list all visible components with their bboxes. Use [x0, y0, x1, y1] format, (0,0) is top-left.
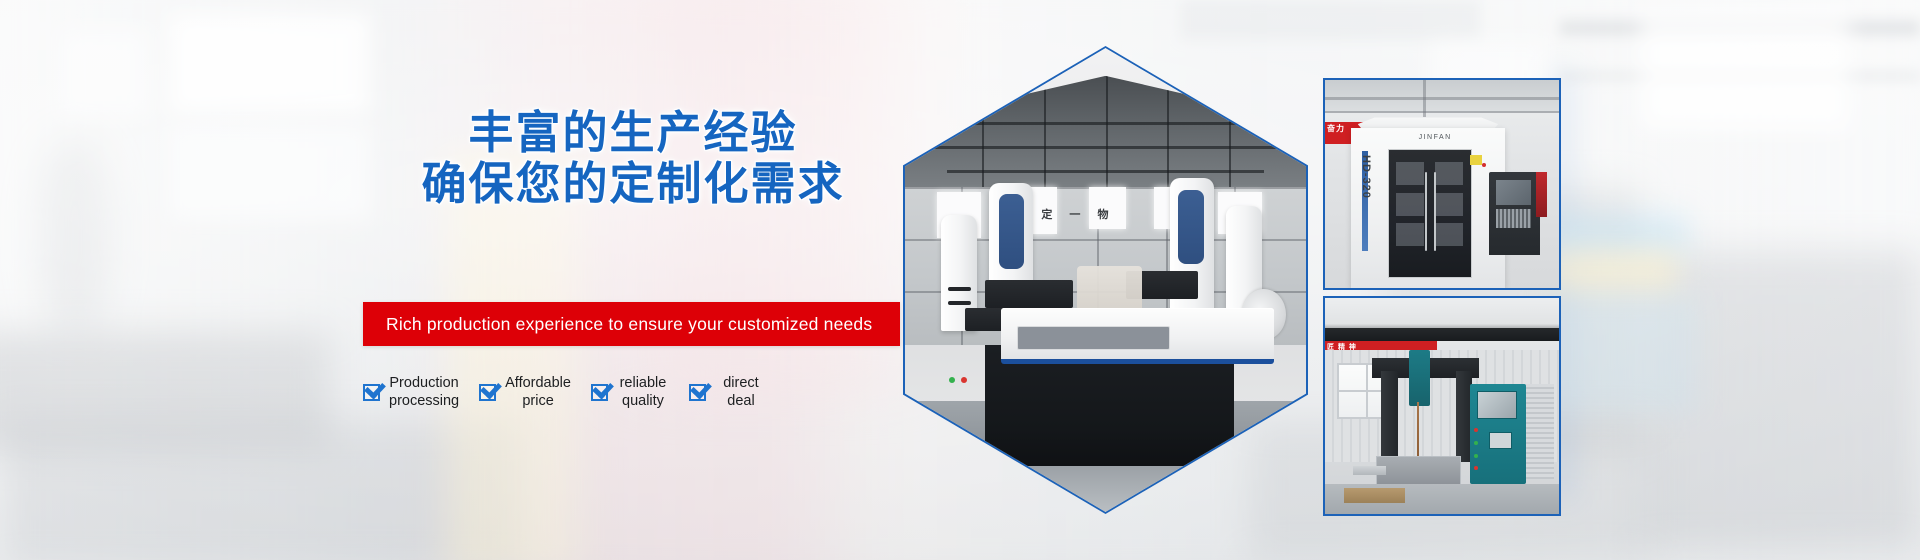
- thumb-warning-sticker: [1470, 155, 1482, 165]
- thumb-door-glass: [1396, 193, 1424, 216]
- photo-wall-sign: 定 一 物: [1041, 206, 1115, 222]
- promo-banner: 丰富的生产经验 确保您的定制化需求 Rich production experi…: [0, 0, 1920, 560]
- thumb-door-glass: [1396, 162, 1424, 185]
- thumb-door-handle: [1434, 172, 1436, 251]
- photo-roof: [905, 76, 1306, 197]
- thumb-panel-button: [1474, 454, 1478, 458]
- feature-label: Production processing: [389, 374, 459, 410]
- banner-copy: 丰富的生产经验 确保您的定制化需求 Rich production experi…: [0, 0, 1000, 560]
- subtitle-red-bar: Rich production experience to ensure you…: [363, 302, 900, 346]
- thumb-panel-button: [1474, 441, 1478, 445]
- thumb-model-label: HD-320: [1360, 155, 1372, 199]
- feature-item-production-processing[interactable]: Production processing: [363, 374, 459, 410]
- thumb-roof-beam: [1325, 97, 1559, 100]
- banner-headline: 丰富的生产经验 确保您的定制化需求: [363, 107, 903, 209]
- hero-hexagon-image[interactable]: 定 一 物: [903, 46, 1308, 514]
- thumb-door-handle: [1425, 172, 1427, 251]
- photo-roof-rib: [1229, 88, 1231, 197]
- photo-roof-rib: [1106, 76, 1108, 197]
- thumb-red-panel: [1536, 172, 1548, 218]
- hexagon-inner: 定 一 物: [905, 48, 1306, 512]
- subtitle-text: Rich production experience to ensure you…: [363, 314, 872, 335]
- thumb-wooden-skid: [1344, 488, 1405, 503]
- thumb-door-glass: [1435, 162, 1463, 185]
- feature-label: reliable quality: [617, 374, 669, 410]
- thumb-electrical-cabinet: [1524, 384, 1554, 479]
- photo-column-vent: [948, 287, 971, 291]
- thumb-roof-rib: [1423, 80, 1426, 117]
- photo-column-panel: [1178, 190, 1204, 264]
- checkmark-icon[interactable]: [689, 384, 706, 401]
- thumb-work-plate: [1353, 466, 1386, 475]
- hero-photo-cnc-machine: 定 一 物: [905, 48, 1306, 512]
- thumb-brand-label: JINFAN: [1419, 134, 1452, 141]
- checkmark-icon[interactable]: [363, 384, 380, 401]
- photo-column-panel: [999, 194, 1024, 269]
- thumb-panel-display: [1489, 432, 1512, 449]
- thumb-door-glass: [1435, 193, 1463, 216]
- checkmark-icon[interactable]: [591, 384, 608, 401]
- photo-roof-rib: [1167, 81, 1169, 197]
- thumb-drill-rod: [1417, 402, 1419, 462]
- feature-item-direct-deal[interactable]: direct deal: [689, 374, 767, 410]
- feature-label: direct deal: [715, 374, 767, 410]
- thumb-control-screen: [1496, 180, 1531, 205]
- photo-column-vent: [948, 301, 971, 305]
- thumbnail-edm-drilling-machine[interactable]: 匠 精 神: [1323, 296, 1561, 516]
- feature-label: Affordable price: [505, 374, 571, 410]
- thumb-control-keypad: [1496, 209, 1531, 228]
- headline-line-1: 丰富的生产经验: [363, 107, 903, 158]
- thumb-machine-door: [1388, 149, 1472, 278]
- thumb-work-tank: [1376, 456, 1460, 486]
- thumb-gantry-post: [1381, 371, 1397, 462]
- thumb-emergency-button: [1482, 163, 1486, 167]
- thumb-door-glass: [1396, 223, 1424, 246]
- photo-machine-arm: [985, 280, 1073, 308]
- thumb-roof-beam: [1325, 111, 1559, 113]
- photo-machine-column: [1170, 178, 1214, 326]
- feature-item-affordable-price[interactable]: Affordable price: [479, 374, 571, 410]
- checkmark-icon[interactable]: [479, 384, 496, 401]
- photo-roof-rib: [982, 88, 984, 197]
- thumb-control-screen: [1477, 391, 1517, 419]
- thumb-panel-button: [1474, 428, 1478, 432]
- thumbnail-hd-320[interactable]: 奋力 HD-320 JINFAN: [1323, 78, 1561, 290]
- photo-bed-window: [1017, 326, 1169, 349]
- photo-roof-rib: [1044, 81, 1046, 197]
- headline-line-2: 确保您的定制化需求: [363, 158, 903, 209]
- thumb-drill-head: [1409, 350, 1430, 406]
- feature-item-reliable-quality[interactable]: reliable quality: [591, 374, 669, 410]
- feature-checkbox-row: Production processing Affordable price r…: [363, 374, 767, 410]
- thumb-door-glass: [1435, 223, 1463, 246]
- thumb-upper-base: [1325, 328, 1559, 341]
